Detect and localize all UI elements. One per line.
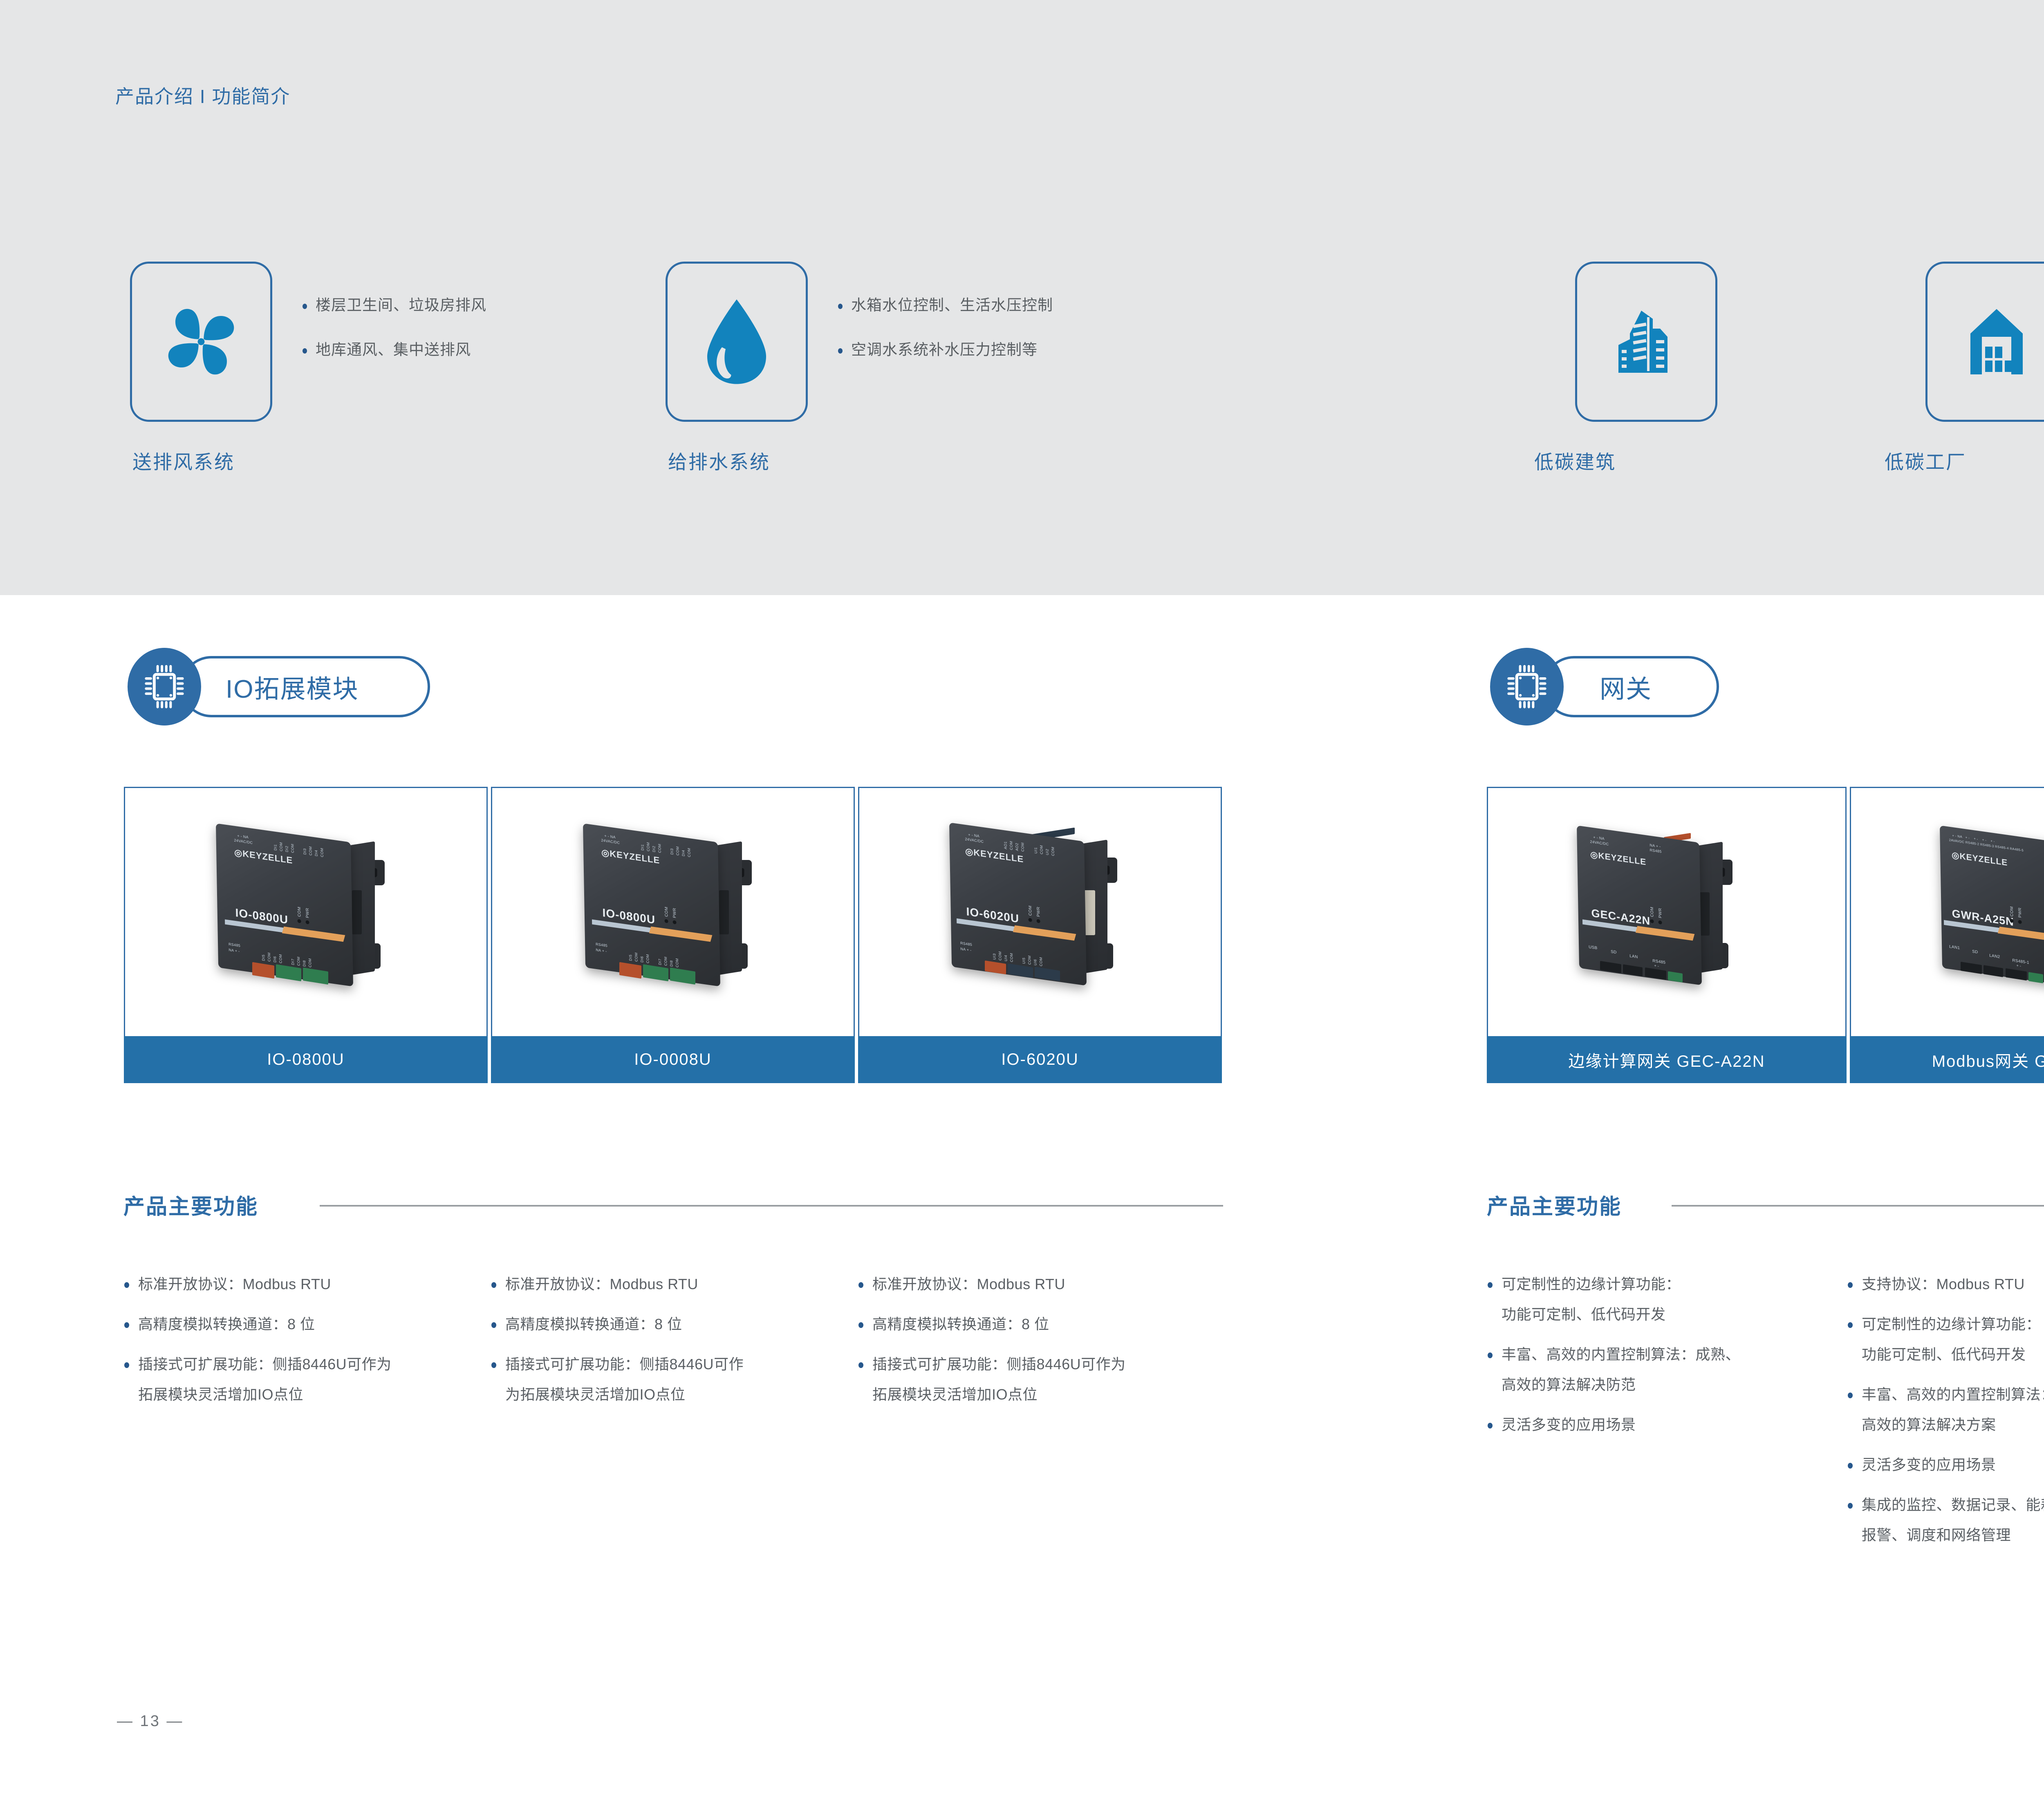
bullet-line: 高精度模拟转换通道：8 位: [138, 1316, 315, 1332]
bullet-line-2: 报警、调度和网络管理: [1862, 1520, 2044, 1550]
list-item: 高精度模拟转换通道：8 位: [123, 1309, 491, 1339]
list-item: 灵活多变的应用场景: [1486, 1410, 1846, 1440]
bullet-line: 支持协议：Modbus RTU: [1862, 1276, 2025, 1292]
list-item: 插接式可扩展功能：侧插8446U可作 为拓展模块灵活增加IO点位: [490, 1349, 858, 1410]
office-building-icon: [1605, 301, 1687, 383]
list-item: 楼层卫生间、垃圾房排风: [301, 298, 486, 313]
bullet-line-2: 高效的算法解决方案: [1862, 1410, 2044, 1440]
bullet-line: 灵活多变的应用场景: [1862, 1456, 1996, 1473]
water-drop-icon: [698, 296, 775, 388]
list-item: 集成的监控、数据记录、能耗计量、 报警、调度和网络管理: [1846, 1490, 2044, 1550]
features-title: 产品主要功能: [1487, 1189, 1622, 1220]
device-photo-gwr-a25n: + - NA + - + - + - + - 2AVAVDC RS485-2 R…: [1934, 820, 2044, 1004]
bullet-line: 丰富、高效的内置控制算法：成熟、: [1502, 1346, 1740, 1363]
bullet-line: 插接式可扩展功能：侧插8446U可作为: [872, 1356, 1126, 1373]
device-photo-io-0800u: + - NA 24VAC/DC DI1 COM DI2 COM DI3 COM …: [210, 822, 402, 1002]
bullet-line: 插接式可扩展功能：侧插8446U可作为: [138, 1356, 392, 1373]
list-item: 支持协议：Modbus RTU: [1846, 1269, 2044, 1299]
product-label-bar: IO-6020U: [858, 1036, 1222, 1083]
heading-rule: [1672, 1205, 2044, 1207]
list-item: 插接式可扩展功能：侧插8446U可作为 拓展模块灵活增加IO点位: [857, 1349, 1225, 1410]
product-label: 边缘计算网关 GEC-A22N: [1568, 1048, 1765, 1072]
bullet-line: 高精度模拟转换通道：8 位: [505, 1316, 682, 1332]
factory-icon: [1956, 301, 2037, 383]
section-header-io-modules: IO拓展模块: [128, 648, 430, 725]
device-photo-io-6020u: + - NA 24VAC/DC AO1 COM AO2 COM UI1 COM …: [944, 818, 1136, 1006]
chip-badge: [1490, 648, 1564, 725]
list-item: 标准开放协议：Modbus RTU: [857, 1269, 1225, 1299]
section-title: IO拓展模块: [226, 668, 359, 705]
bullet-line: 插接式可扩展功能：侧插8446U可作: [505, 1356, 744, 1373]
bullet-line-2: 拓展模块灵活增加IO点位: [138, 1379, 491, 1410]
product-image-frame: + - NA 24VAC/DC DI1 COM DI2 COM DI3 COM …: [124, 787, 488, 1036]
factory-tile: [1925, 262, 2044, 422]
product-image-frame: + - NA 24VAC/DC AO1 COM AO2 COM UI1 COM …: [858, 787, 1222, 1036]
device-photo-gec-a22n: + - NA 24VAC/DC NA + - RS485 ◎KEYZELLE G…: [1571, 820, 1763, 1004]
product-image-frame: + - NA 24VAC/DC DI1 COM DI2 COM DI3 COM …: [491, 787, 855, 1036]
bullet-line: 丰富、高效的内置控制算法：成熟、: [1862, 1386, 2044, 1403]
catalog-spread: 产品介绍 I 功能简介 产品介绍 I 功能简介 楼层卫生间、垃圾房排风 地库通风…: [0, 0, 2044, 1798]
feature-column: 标准开放协议：Modbus RTU 高精度模拟转换通道：8 位 插接式可扩展功能…: [123, 1269, 491, 1420]
list-item: 可定制性的边缘计算功能： 功能可定制、低代码开发: [1846, 1309, 2044, 1370]
bullet-line: 标准开放协议：Modbus RTU: [872, 1276, 1065, 1292]
bullet-line: 标准开放协议：Modbus RTU: [138, 1276, 331, 1292]
bullet-line-2: 功能可定制、低代码开发: [1862, 1339, 2044, 1370]
list-item: 水箱水位控制、生活水压控制: [836, 298, 1053, 313]
bullet-line-2: 高效的算法解决防范: [1502, 1370, 1846, 1400]
device-photo-io-0008u: + - NA 24VAC/DC DI1 COM DI2 COM DI3 COM …: [577, 822, 769, 1002]
product-card[interactable]: + - NA 24VAC/DC DI1 COM DI2 COM DI3 COM …: [491, 787, 855, 1083]
building-tile: [1575, 262, 1717, 422]
section-header-gateways: 网关: [1490, 648, 1735, 725]
bullet-line-2: 拓展模块灵活增加IO点位: [872, 1379, 1225, 1410]
scenario-caption: 送排风系统: [132, 446, 235, 475]
product-image-frame: + - NA 24VAC/DC NA + - RS485 ◎KEYZELLE G…: [1487, 787, 1847, 1036]
segment-caption: 低碳建筑: [1534, 446, 1616, 475]
list-item: 高精度模拟转换通道：8 位: [490, 1309, 858, 1339]
list-item: 丰富、高效的内置控制算法：成熟、 高效的算法解决方案: [1846, 1379, 2044, 1440]
list-item: 丰富、高效的内置控制算法：成熟、 高效的算法解决防范: [1486, 1339, 1846, 1400]
bullet-line: 标准开放协议：Modbus RTU: [505, 1276, 698, 1292]
list-item: 空调水系统补水压力控制等: [836, 342, 1053, 357]
chip-badge: [128, 648, 201, 725]
product-label: IO-6020U: [1001, 1050, 1078, 1069]
list-item: 标准开放协议：Modbus RTU: [490, 1269, 858, 1299]
scenario-caption: 给排水系统: [668, 446, 770, 475]
product-label: IO-0008U: [634, 1050, 711, 1069]
bullet-line-2: 功能可定制、低代码开发: [1502, 1299, 1846, 1330]
product-label-bar: IO-0800U: [124, 1036, 488, 1083]
product-card[interactable]: + - NA 24VAC/DC DI1 COM DI2 COM DI3 COM …: [124, 787, 488, 1083]
chip-icon: [1505, 662, 1549, 711]
ventilation-bullets: 楼层卫生间、垃圾房排风 地库通风、集中送排风: [301, 298, 486, 387]
list-item: 地库通风、集中送排风: [301, 342, 486, 357]
bullet-line: 高精度模拟转换通道：8 位: [872, 1316, 1049, 1332]
segment-caption: 低碳工厂: [1885, 446, 1966, 475]
product-card[interactable]: + - NA 24VAC/DC NA + - RS485 ◎KEYZELLE G…: [1487, 787, 1847, 1083]
product-label-bar: 边缘计算网关 GEC-A22N: [1487, 1036, 1847, 1083]
section-title: 网关: [1600, 668, 1652, 705]
bullet-line: 集成的监控、数据记录、能耗计量、: [1862, 1496, 2044, 1513]
product-label: IO-0800U: [267, 1050, 344, 1069]
heading-rule: [320, 1205, 1223, 1207]
bullet-line: 可定制性的边缘计算功能：: [1502, 1276, 1681, 1292]
list-item: 高精度模拟转换通道：8 位: [857, 1309, 1225, 1339]
product-card[interactable]: + - NA + - + - + - + - 2AVAVDC RS485-2 R…: [1850, 787, 2044, 1083]
water-bullets: 水箱水位控制、生活水压控制 空调水系统补水压力控制等: [836, 298, 1053, 387]
water-tile: [666, 262, 808, 422]
bullet-line-2: 为拓展模块灵活增加IO点位: [505, 1379, 858, 1410]
product-label-bar: IO-0008U: [491, 1036, 855, 1083]
running-head-left: 产品介绍 I 功能简介: [115, 82, 290, 109]
product-card[interactable]: + - NA 24VAC/DC AO1 COM AO2 COM UI1 COM …: [858, 787, 1222, 1083]
page-number-left: — 13 —: [117, 1713, 184, 1730]
fan-icon: [158, 299, 244, 385]
features-title: 产品主要功能: [123, 1189, 258, 1220]
bullet-line: 可定制性的边缘计算功能：: [1862, 1316, 2041, 1332]
list-item: 灵活多变的应用场景: [1846, 1450, 2044, 1480]
list-item: 插接式可扩展功能：侧插8446U可作为 拓展模块灵活增加IO点位: [123, 1349, 491, 1410]
list-item: 可定制性的边缘计算功能： 功能可定制、低代码开发: [1486, 1269, 1846, 1330]
product-label-bar: Modbus网关 GWR-A25N: [1850, 1036, 2044, 1083]
feature-column: 支持协议：Modbus RTU 可定制性的边缘计算功能： 功能可定制、低代码开发…: [1846, 1269, 2044, 1560]
feature-column: 标准开放协议：Modbus RTU 高精度模拟转换通道：8 位 插接式可扩展功能…: [490, 1269, 858, 1420]
feature-column: 标准开放协议：Modbus RTU 高精度模拟转换通道：8 位 插接式可扩展功能…: [857, 1269, 1225, 1420]
bullet-line: 灵活多变的应用场景: [1502, 1416, 1636, 1433]
feature-column: 可定制性的边缘计算功能： 功能可定制、低代码开发 丰富、高效的内置控制算法：成熟…: [1486, 1269, 1846, 1450]
product-label: Modbus网关 GWR-A25N: [1932, 1048, 2044, 1072]
list-item: 标准开放协议：Modbus RTU: [123, 1269, 491, 1299]
product-image-frame: + - NA + - + - + - + - 2AVAVDC RS485-2 R…: [1850, 787, 2044, 1036]
chip-icon: [142, 662, 186, 711]
fan-tile: [130, 262, 272, 422]
